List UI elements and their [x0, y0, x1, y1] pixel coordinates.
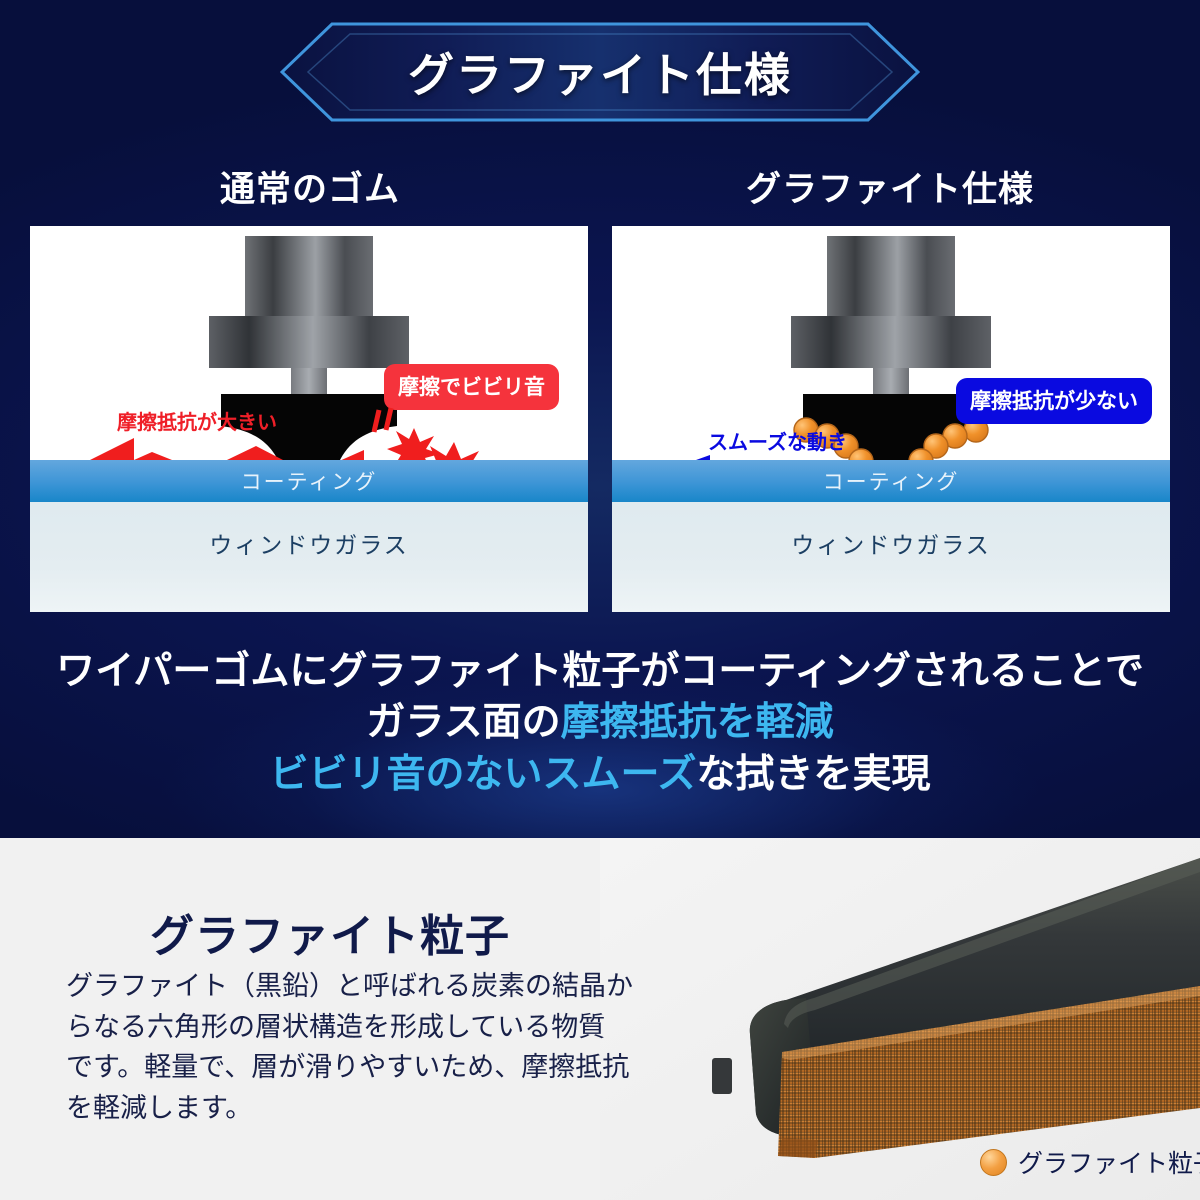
left-coating-layer: コーティング — [30, 460, 588, 502]
left-glass-layer: ウィンドウガラス — [30, 502, 588, 612]
right-glass-label: ウィンドウガラス — [791, 526, 991, 560]
right-coating-layer: コーティング — [612, 460, 1170, 502]
graphite-particle-legend-label: グラファイト粒子 — [1018, 1144, 1200, 1180]
right-glass-layer: ウィンドウガラス — [612, 502, 1170, 612]
summary-line-2-highlight: 摩擦抵抗を軽減 — [561, 701, 834, 744]
banner-title-text: グラファイト仕様 — [280, 22, 920, 122]
detail-body-line-3: です。軽量で、層が滑りやすいため、摩擦抵抗 — [66, 1047, 631, 1088]
friction-noise-badge: 摩擦でビビリ音 — [384, 364, 559, 410]
left-diagram-panel: 摩擦でビビリ音 摩擦抵抗が大きい コ — [30, 226, 588, 612]
summary-line-2-plain: ガラス面の — [366, 701, 560, 744]
left-glass-label: ウィンドウガラス — [209, 526, 409, 560]
graphite-particle-legend: グラファイト粒子 — [980, 1144, 1200, 1180]
right-diagram-panel: 摩擦抵抗が少ない グラファイト粒子 スムーズな動き コーティング ウィンドウガラ… — [612, 226, 1170, 612]
summary-text-block: ワイパーゴムにグラファイト粒子がコーティングされることで ガラス面の摩擦抵抗を軽… — [0, 646, 1200, 800]
detail-body-line-2: らなる六角形の層状構造を形成している物質 — [66, 1007, 631, 1048]
summary-line-3: ビビリ音のないスムーズな拭きを実現 — [0, 749, 1200, 800]
detail-section-title: グラファイト粒子 — [150, 900, 510, 964]
detail-body-line-1: グラファイト（黒鉛）と呼ばれる炭素の結晶か — [66, 966, 631, 1007]
low-friction-badge: 摩擦抵抗が少ない — [956, 378, 1152, 424]
top-dark-section: グラファイト仕様 通常のゴム グラファイト仕様 — [0, 0, 1200, 838]
summary-line-3-highlight-1: ビビリ音のない — [269, 753, 542, 796]
summary-line-2: ガラス面の摩擦抵抗を軽減 — [0, 697, 1200, 748]
detail-section-body: グラファイト（黒鉛）と呼ばれる炭素の結晶か らなる六角形の層状構造を形成している… — [66, 966, 631, 1128]
left-coating-label: コーティング — [241, 466, 378, 496]
summary-line-3-highlight-2: スムーズ — [542, 753, 696, 796]
infographic-page: グラファイト仕様 通常のゴム グラファイト仕様 — [0, 0, 1200, 1200]
smooth-motion-arrow-label: スムーズな動き — [708, 426, 847, 455]
summary-line-3-plain: な拭きを実現 — [697, 753, 931, 796]
graphite-particle-legend-icon — [980, 1149, 1007, 1176]
right-panel-heading: グラファイト仕様 — [600, 160, 1180, 212]
detail-body-line-4: を軽減します。 — [66, 1088, 631, 1129]
left-panel-heading: 通常のゴム — [20, 160, 600, 212]
title-banner: グラファイト仕様 — [280, 22, 920, 122]
title-banner-area: グラファイト仕様 — [0, 22, 1200, 122]
high-friction-arrow-label: 摩擦抵抗が大きい — [117, 406, 277, 435]
summary-line-1: ワイパーゴムにグラファイト粒子がコーティングされることで — [0, 646, 1200, 697]
right-coating-label: コーティング — [823, 466, 960, 496]
